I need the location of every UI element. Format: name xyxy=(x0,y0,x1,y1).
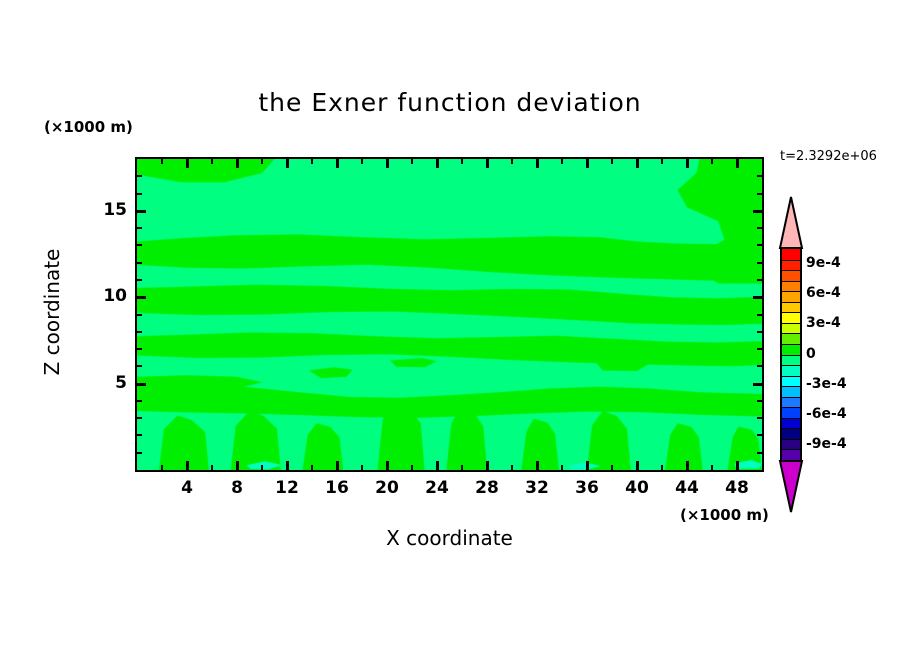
x-tick-mark xyxy=(561,465,563,470)
y-tick-mark xyxy=(757,348,762,350)
colorbar-band xyxy=(782,397,800,408)
x-tick-mark xyxy=(536,159,539,168)
x-tick-mark xyxy=(486,159,489,168)
x-tick-mark xyxy=(611,159,613,164)
colorbar-tick-label: 6e-4 xyxy=(806,285,841,301)
y-tick-mark xyxy=(757,193,762,195)
colorbar-band xyxy=(782,302,800,313)
y-tick-mark xyxy=(137,279,142,281)
x-tick-label: 12 xyxy=(267,478,307,498)
x-tick-mark xyxy=(661,159,663,164)
colorbar-band-separator xyxy=(782,428,800,429)
colorbar-tick-label: -6e-4 xyxy=(806,406,847,422)
y-tick-mark xyxy=(757,452,762,454)
y-tick-mark xyxy=(137,383,146,386)
y-tick-mark xyxy=(137,434,142,436)
x-tick-mark xyxy=(511,159,513,164)
x-tick-mark xyxy=(361,159,363,164)
x-tick-mark xyxy=(186,159,189,168)
x-tick-mark xyxy=(311,159,313,164)
colorbar-band xyxy=(782,281,800,292)
x-tick-label: 36 xyxy=(567,478,607,498)
x-tick-mark xyxy=(411,159,413,164)
x-axis-units: (×1000 m) xyxy=(680,506,769,524)
colorbar-band-separator xyxy=(782,407,800,408)
colorbar-tick-label: 9e-4 xyxy=(806,255,841,271)
colorbar-under-arrow xyxy=(778,460,804,513)
x-tick-mark xyxy=(611,465,613,470)
colorbar-band xyxy=(782,428,800,439)
x-tick-mark xyxy=(361,465,363,470)
colorbar-band xyxy=(782,323,800,334)
x-tick-mark xyxy=(211,465,213,470)
x-tick-mark xyxy=(511,465,513,470)
x-tick-label: 48 xyxy=(717,478,757,498)
y-tick-mark xyxy=(753,210,762,213)
x-tick-mark xyxy=(586,159,589,168)
colorbar-band xyxy=(782,344,800,355)
y-tick-mark xyxy=(137,452,142,454)
colorbar-band xyxy=(782,249,800,260)
x-tick-mark xyxy=(636,461,639,470)
colorbar-band xyxy=(782,270,800,281)
colorbar-tick-label: 0 xyxy=(806,346,816,362)
y-tick-mark xyxy=(137,348,142,350)
colorbar-tick-labels: 9e-46e-43e-40-3e-4-6e-4-9e-4 xyxy=(806,196,904,513)
contour-plot-area xyxy=(135,157,764,472)
y-tick-mark xyxy=(137,314,142,316)
y-axis-title: Z coordinate xyxy=(40,232,64,392)
colorbar-band xyxy=(782,365,800,376)
x-tick-mark xyxy=(736,461,739,470)
colorbar-tick-label: -9e-4 xyxy=(806,436,847,452)
x-tick-label: 32 xyxy=(517,478,557,498)
colorbar-tick-label: -3e-4 xyxy=(806,376,847,392)
colorbar-band xyxy=(782,333,800,344)
x-tick-label: 16 xyxy=(317,478,357,498)
y-tick-label: 5 xyxy=(87,373,127,393)
y-tick-mark xyxy=(757,279,762,281)
y-tick-mark xyxy=(137,365,142,367)
x-tick-mark xyxy=(236,159,239,168)
x-tick-mark xyxy=(686,461,689,470)
y-tick-mark xyxy=(137,227,142,229)
x-tick-mark xyxy=(336,461,339,470)
colorbar-band xyxy=(782,291,800,302)
x-tick-mark xyxy=(586,461,589,470)
colorbar-band xyxy=(782,449,800,460)
y-tick-mark xyxy=(137,193,142,195)
x-tick-mark xyxy=(461,159,463,164)
y-tick-mark xyxy=(757,262,762,264)
colorbar-band-separator xyxy=(782,281,800,282)
colorbar-band-separator xyxy=(782,386,800,387)
colorbar-bands xyxy=(780,247,802,462)
y-tick-mark xyxy=(757,417,762,419)
y-tick-mark xyxy=(137,262,142,264)
colorbar-band xyxy=(782,439,800,450)
colorbar-band-separator xyxy=(782,439,800,440)
colorbar-band-separator xyxy=(782,355,800,356)
x-tick-mark xyxy=(436,159,439,168)
y-tick-mark xyxy=(757,365,762,367)
y-tick-mark xyxy=(137,210,146,213)
colorbar-tick-label: 3e-4 xyxy=(806,315,841,331)
x-tick-label: 28 xyxy=(467,478,507,498)
x-tick-mark xyxy=(436,461,439,470)
colorbar-band-separator xyxy=(782,323,800,324)
y-tick-mark xyxy=(757,331,762,333)
y-tick-mark xyxy=(137,296,146,299)
colorbar-band-separator xyxy=(782,418,800,419)
y-tick-mark xyxy=(753,383,762,386)
x-tick-mark xyxy=(561,159,563,164)
y-tick-mark xyxy=(757,227,762,229)
x-tick-mark xyxy=(186,461,189,470)
x-tick-label: 24 xyxy=(417,478,457,498)
x-tick-mark xyxy=(211,159,213,164)
x-tick-mark xyxy=(486,461,489,470)
y-tick-label: 15 xyxy=(87,200,127,220)
colorbar-band-separator xyxy=(782,270,800,271)
colorbar-over-arrow xyxy=(778,196,804,249)
x-tick-mark xyxy=(336,159,339,168)
x-tick-mark xyxy=(261,465,263,470)
colorbar-band-separator xyxy=(782,365,800,366)
y-axis-units: (×1000 m) xyxy=(44,118,133,136)
colorbar-band-separator xyxy=(782,291,800,292)
y-tick-mark xyxy=(137,331,142,333)
y-tick-mark xyxy=(757,314,762,316)
y-tick-mark xyxy=(757,400,762,402)
page-title: the Exner function deviation xyxy=(88,88,812,117)
timestamp-annotation: t=2.3292e+06 xyxy=(780,149,877,164)
contour-field xyxy=(137,159,762,470)
x-tick-mark xyxy=(161,159,163,164)
y-tick-mark xyxy=(137,175,142,177)
x-tick-mark xyxy=(261,159,263,164)
x-tick-mark xyxy=(411,465,413,470)
x-tick-label: 4 xyxy=(167,478,207,498)
colorbar-band-separator xyxy=(782,376,800,377)
colorbar-band-separator xyxy=(782,449,800,450)
x-tick-mark xyxy=(286,461,289,470)
colorbar-band-separator xyxy=(782,344,800,345)
x-tick-mark xyxy=(636,159,639,168)
y-tick-mark xyxy=(753,296,762,299)
x-axis-title: X coordinate xyxy=(135,526,764,550)
y-tick-mark xyxy=(757,244,762,246)
colorbar-band xyxy=(782,260,800,271)
colorbar-band-separator xyxy=(782,260,800,261)
colorbar-band xyxy=(782,376,800,387)
x-tick-mark xyxy=(661,465,663,470)
x-tick-label: 40 xyxy=(617,478,657,498)
colorbar-band-separator xyxy=(782,312,800,313)
x-tick-label: 20 xyxy=(367,478,407,498)
x-tick-mark xyxy=(386,159,389,168)
y-tick-mark xyxy=(137,417,142,419)
colorbar-band-separator xyxy=(782,333,800,334)
colorbar: 9e-46e-43e-40-3e-4-6e-4-9e-4 xyxy=(778,196,804,513)
colorbar-band xyxy=(782,418,800,429)
colorbar-band xyxy=(782,312,800,323)
y-tick-mark xyxy=(757,175,762,177)
x-tick-mark xyxy=(711,465,713,470)
x-tick-mark xyxy=(736,159,739,168)
x-tick-label: 8 xyxy=(217,478,257,498)
x-tick-mark xyxy=(461,465,463,470)
x-tick-mark xyxy=(386,461,389,470)
x-tick-mark xyxy=(711,159,713,164)
y-tick-label: 10 xyxy=(87,286,127,306)
x-tick-mark xyxy=(286,159,289,168)
x-tick-mark xyxy=(311,465,313,470)
x-tick-mark xyxy=(686,159,689,168)
y-tick-mark xyxy=(757,434,762,436)
y-tick-mark xyxy=(137,244,142,246)
colorbar-band-separator xyxy=(782,302,800,303)
x-tick-mark xyxy=(236,461,239,470)
x-tick-label: 44 xyxy=(667,478,707,498)
x-tick-mark xyxy=(536,461,539,470)
colorbar-band xyxy=(782,386,800,397)
colorbar-band xyxy=(782,355,800,366)
colorbar-band-separator xyxy=(782,397,800,398)
x-tick-mark xyxy=(161,465,163,470)
colorbar-band xyxy=(782,407,800,418)
y-tick-mark xyxy=(137,400,142,402)
